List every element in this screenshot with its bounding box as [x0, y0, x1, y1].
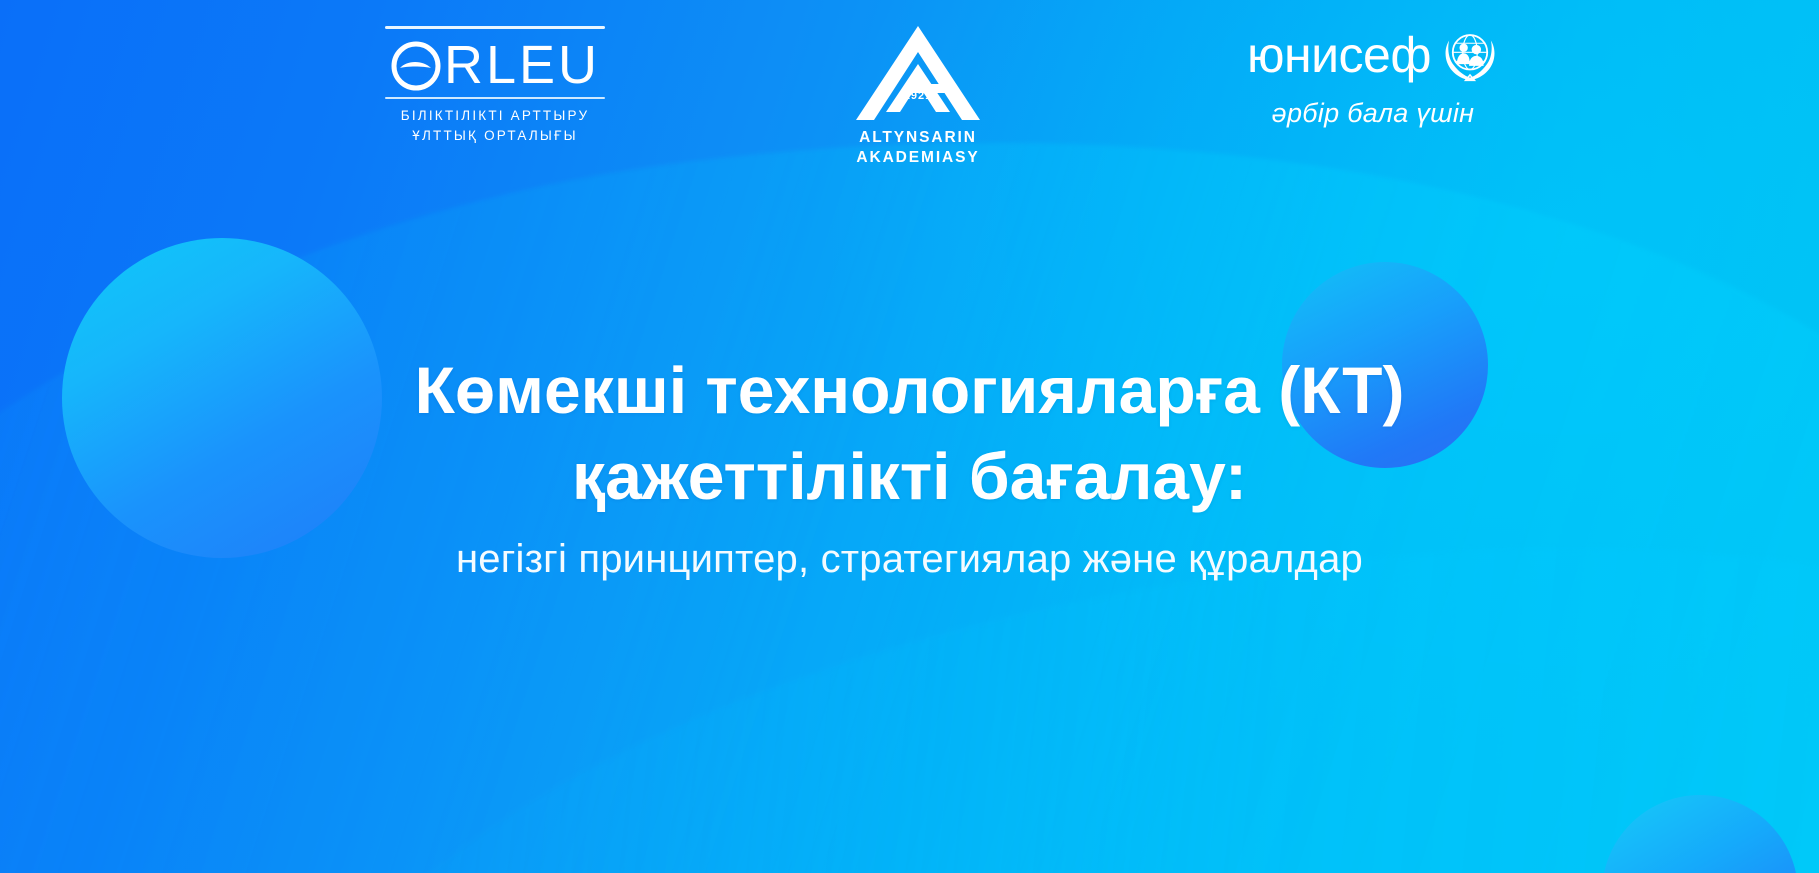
page-subtitle: негізгі принциптер, стратегиялар және құ…	[0, 534, 1819, 584]
unicef-logo: юнисеф	[1228, 26, 1518, 129]
orleu-subtitle-line2: ҰЛТТЫҚ ОРТАЛЫҒЫ	[385, 126, 605, 146]
altynsarin-akademiasy-logo: 1921 ALTYNSARIN AKADEMIASY	[838, 24, 998, 168]
orleu-wordmark: RLEU	[385, 37, 605, 93]
altynsarin-name-line2: AKADEMIASY	[838, 148, 998, 168]
orleu-theta-icon	[390, 37, 442, 93]
page-title-line1: Көмекші технологияларға (КТ)	[0, 348, 1819, 434]
unicef-tagline: әрбір бала үшін	[1228, 98, 1518, 129]
orleu-subtitle: БІЛІКТІЛІКТІ АРТТЫРУ ҰЛТТЫҚ ОРТАЛЫҒЫ	[385, 106, 605, 145]
orleu-wordmark-text: RLEU	[444, 38, 600, 92]
logo-bar: RLEU БІЛІКТІЛІКТІ АРТТЫРУ ҰЛТТЫҚ ОРТАЛЫҒ…	[0, 0, 1819, 185]
unicef-globe-emblem-icon	[1441, 26, 1499, 84]
altynsarin-name-line1: ALTYNSARIN	[838, 128, 998, 148]
orleu-logo: RLEU БІЛІКТІЛІКТІ АРТТЫРУ ҰЛТТЫҚ ОРТАЛЫҒ…	[385, 26, 605, 145]
headline-block: Көмекші технологияларға (КТ) қажеттілікт…	[0, 348, 1819, 584]
unicef-wordmark-text: юнисеф	[1247, 30, 1431, 80]
altynsarin-a-mark: 1921	[854, 24, 982, 122]
unicef-wordmark-row: юнисеф	[1228, 26, 1518, 84]
decorative-circle-bottom-right	[1602, 795, 1798, 873]
orleu-rule-top	[385, 26, 605, 29]
orleu-rule-bottom	[385, 97, 605, 99]
altynsarin-name: ALTYNSARIN AKADEMIASY	[838, 128, 998, 168]
page-title: Көмекші технологияларға (КТ) қажеттілікт…	[0, 348, 1819, 520]
page-title-line2: қажеттілікті бағалау:	[0, 434, 1819, 520]
title-slide: RLEU БІЛІКТІЛІКТІ АРТТЫРУ ҰЛТТЫҚ ОРТАЛЫҒ…	[0, 0, 1819, 873]
orleu-subtitle-line1: БІЛІКТІЛІКТІ АРТТЫРУ	[385, 106, 605, 126]
altynsarin-triangle-a-icon	[854, 24, 982, 122]
altynsarin-year: 1921	[854, 90, 982, 102]
